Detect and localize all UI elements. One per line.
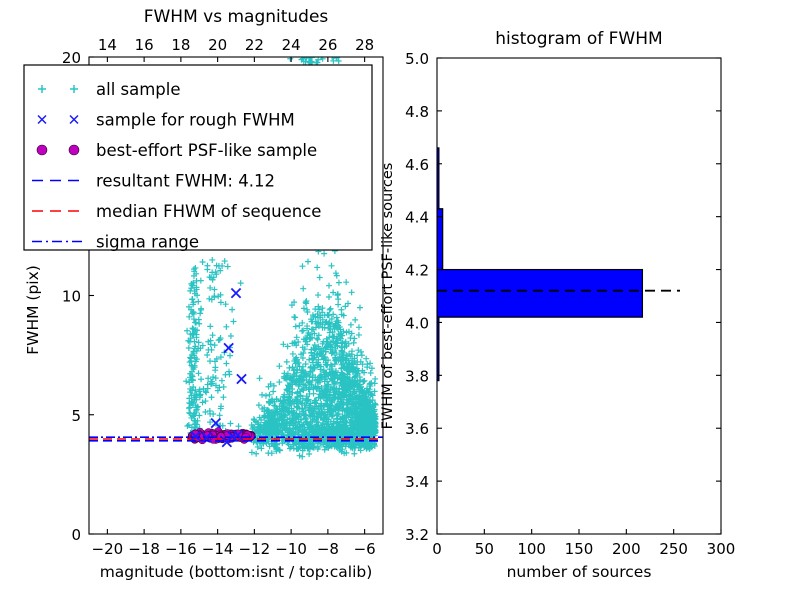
right-xticks: 050100150200250300: [432, 529, 735, 558]
series-rough-sample: [191, 289, 246, 447]
svg-text:16: 16: [135, 36, 154, 54]
dot-marker: [37, 145, 47, 155]
svg-text:0: 0: [71, 526, 81, 544]
histogram-bars: [437, 148, 642, 381]
svg-text:3.6: 3.6: [405, 420, 429, 438]
svg-text:22: 22: [245, 36, 264, 54]
svg-text:28: 28: [355, 36, 374, 54]
legend-item-label: sigma range: [96, 233, 199, 252]
svg-text:200: 200: [612, 540, 641, 558]
svg-text:−10: −10: [275, 540, 307, 558]
legend-item-label: resultant FWHM: 4.12: [96, 172, 275, 191]
svg-text:100: 100: [517, 540, 546, 558]
svg-text:5: 5: [71, 407, 81, 425]
svg-text:20: 20: [208, 36, 227, 54]
legend-item-label: sample for rough FWHM: [96, 111, 295, 130]
svg-text:−16: −16: [165, 540, 197, 558]
svg-text:4.6: 4.6: [405, 156, 429, 174]
svg-text:50: 50: [475, 540, 494, 558]
right-panel: histogram of FWHM 050100150200250300 3.2…: [380, 29, 735, 581]
svg-text:−6: −6: [354, 540, 376, 558]
legend-item-label: all sample: [96, 80, 181, 99]
svg-text:3.4: 3.4: [405, 473, 429, 491]
right-panel-title: histogram of FWHM: [495, 29, 662, 49]
svg-text:26: 26: [318, 36, 337, 54]
legend: all samplesample for rough FWHMbest-effo…: [24, 65, 372, 252]
left-xlabel: magnitude (bottom:isnt / top:calib): [100, 563, 373, 581]
svg-text:250: 250: [659, 540, 688, 558]
svg-text:300: 300: [707, 540, 736, 558]
dot-marker: [69, 145, 79, 155]
histogram-bars-group: [437, 148, 680, 381]
svg-text:4.8: 4.8: [405, 103, 429, 121]
svg-text:−8: −8: [317, 540, 339, 558]
left-xticks-bottom: −20−18−16−14−12−10−8−6: [92, 529, 376, 558]
svg-text:18: 18: [171, 36, 190, 54]
legend-item-label: best-effort PSF-like sample: [96, 141, 317, 160]
svg-text:3.2: 3.2: [405, 526, 429, 544]
svg-text:14: 14: [98, 36, 117, 54]
svg-text:4.4: 4.4: [405, 209, 429, 227]
svg-text:24: 24: [282, 36, 301, 54]
svg-text:−14: −14: [202, 540, 234, 558]
svg-text:−18: −18: [128, 540, 160, 558]
svg-text:0: 0: [432, 540, 442, 558]
matplotlib-figure: FWHM vs magnitudes −20−18−16−14−12−10−8−…: [0, 0, 800, 600]
svg-text:20: 20: [62, 49, 81, 67]
svg-text:10: 10: [62, 288, 81, 306]
svg-text:5.0: 5.0: [405, 50, 429, 68]
svg-text:150: 150: [565, 540, 594, 558]
left-ylabel: FWHM (pix): [24, 265, 42, 355]
left-panel-title: FWHM vs magnitudes: [144, 7, 329, 27]
legend-item-label: median FHWM of sequence: [96, 202, 321, 221]
svg-text:−20: −20: [92, 540, 124, 558]
right-ylabel: FWHM of best-effort PSF-like sources: [380, 163, 396, 430]
figure-canvas: FWHM vs magnitudes −20−18−16−14−12−10−8−…: [0, 0, 800, 600]
svg-text:3.8: 3.8: [405, 367, 429, 385]
svg-text:−12: −12: [239, 540, 271, 558]
svg-text:4.0: 4.0: [405, 314, 429, 332]
svg-text:4.2: 4.2: [405, 262, 429, 280]
right-xlabel: number of sources: [507, 563, 652, 581]
